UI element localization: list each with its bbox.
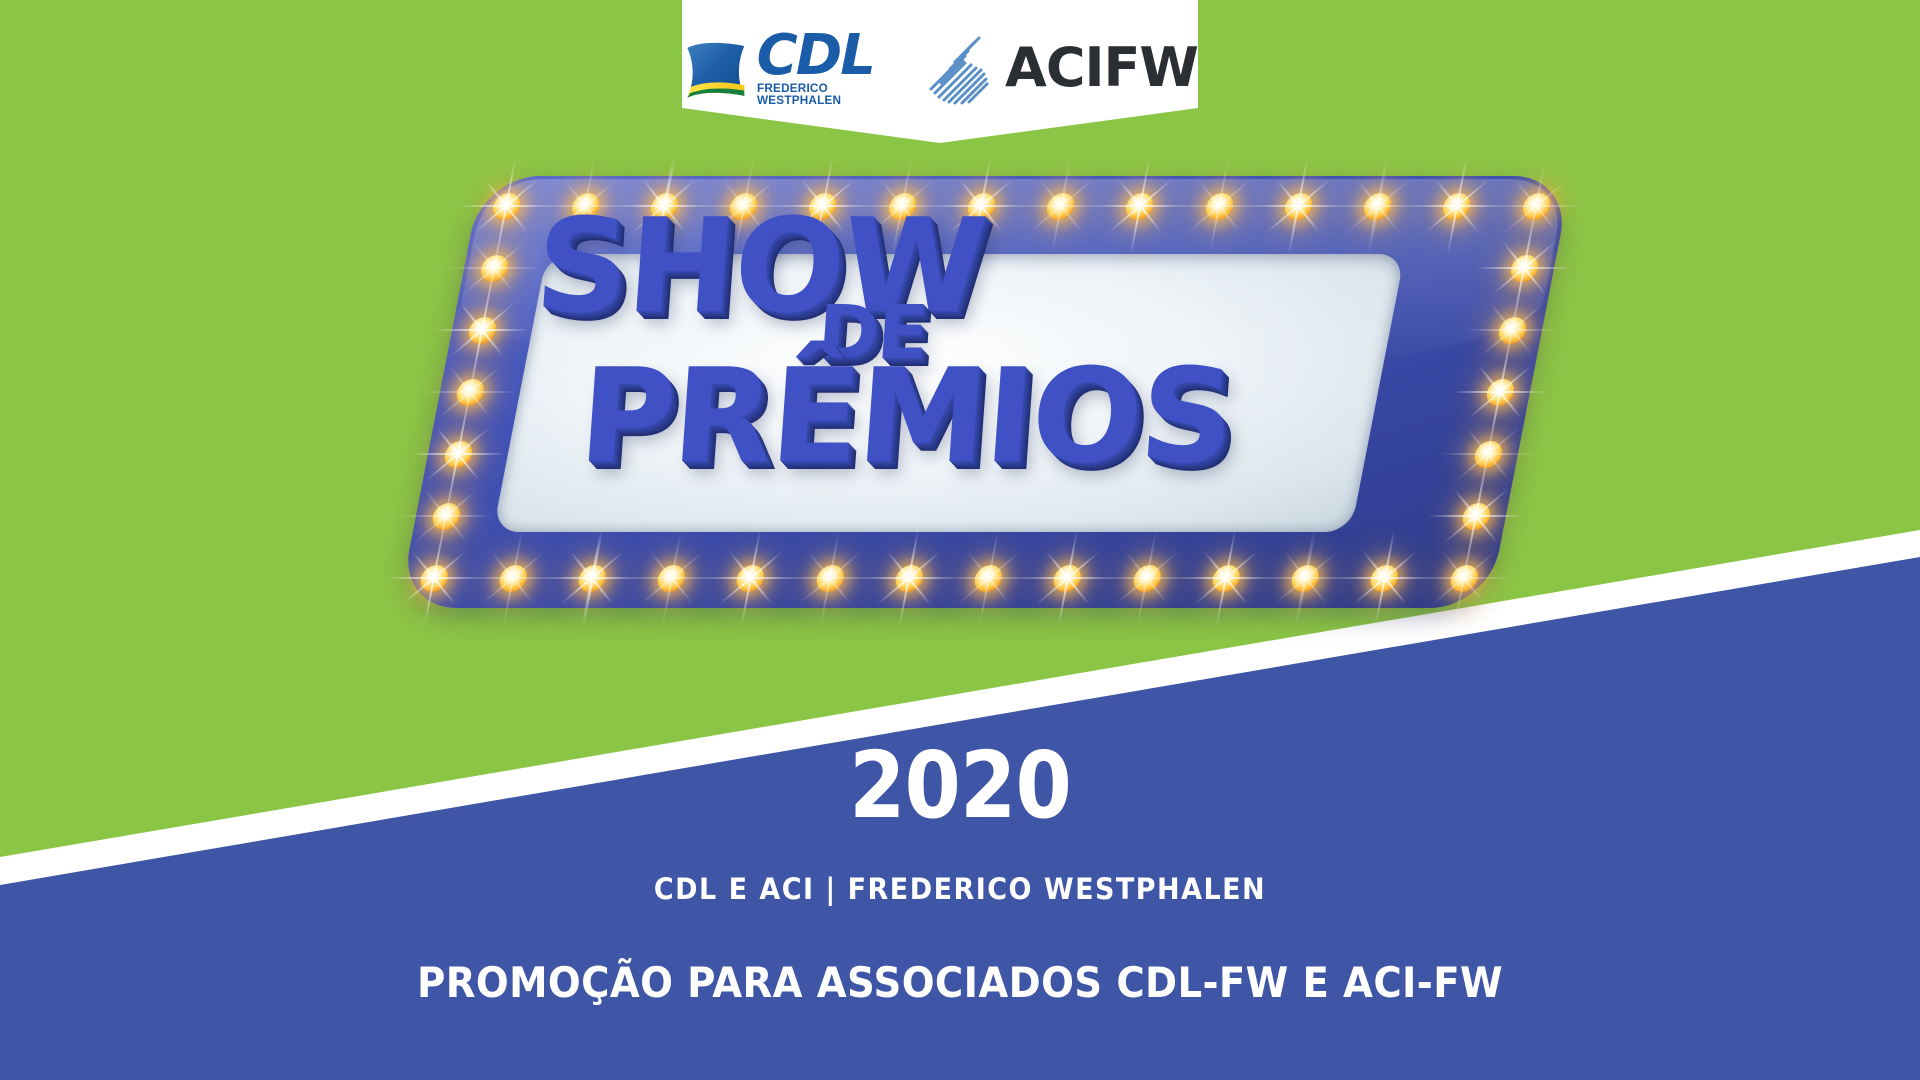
- cdl-subtitle: FREDERICO WESTPHALEN: [757, 83, 898, 107]
- cdl-flag-emblem: [682, 35, 750, 107]
- acifw-logo: ACIFW: [921, 31, 1198, 105]
- cdl-wordmark: CDL: [757, 30, 874, 82]
- year-heading: 2020: [115, 740, 1805, 832]
- marquee-sign: SHOW DE PRÊMIOS: [404, 176, 1564, 608]
- poster-canvas: CDL FREDERICO WESTPHALEN: [0, 0, 1920, 1080]
- marquee-panel: [493, 254, 1405, 532]
- organizations-subline: CDL E ACI | FREDERICO WESTPHALEN: [67, 872, 1853, 906]
- bottom-copy-block: 2020 CDL E ACI | FREDERICO WESTPHALEN PR…: [0, 740, 1920, 1007]
- cdl-logo: CDL FREDERICO WESTPHALEN: [682, 30, 895, 108]
- promotion-tagline: PROMOÇÃO PARA ASSOCIADOS CDL-FW E ACI-FW: [77, 958, 1843, 1007]
- acifw-wordmark: ACIFW: [1005, 41, 1198, 95]
- acifw-stripes-emblem: [921, 31, 995, 105]
